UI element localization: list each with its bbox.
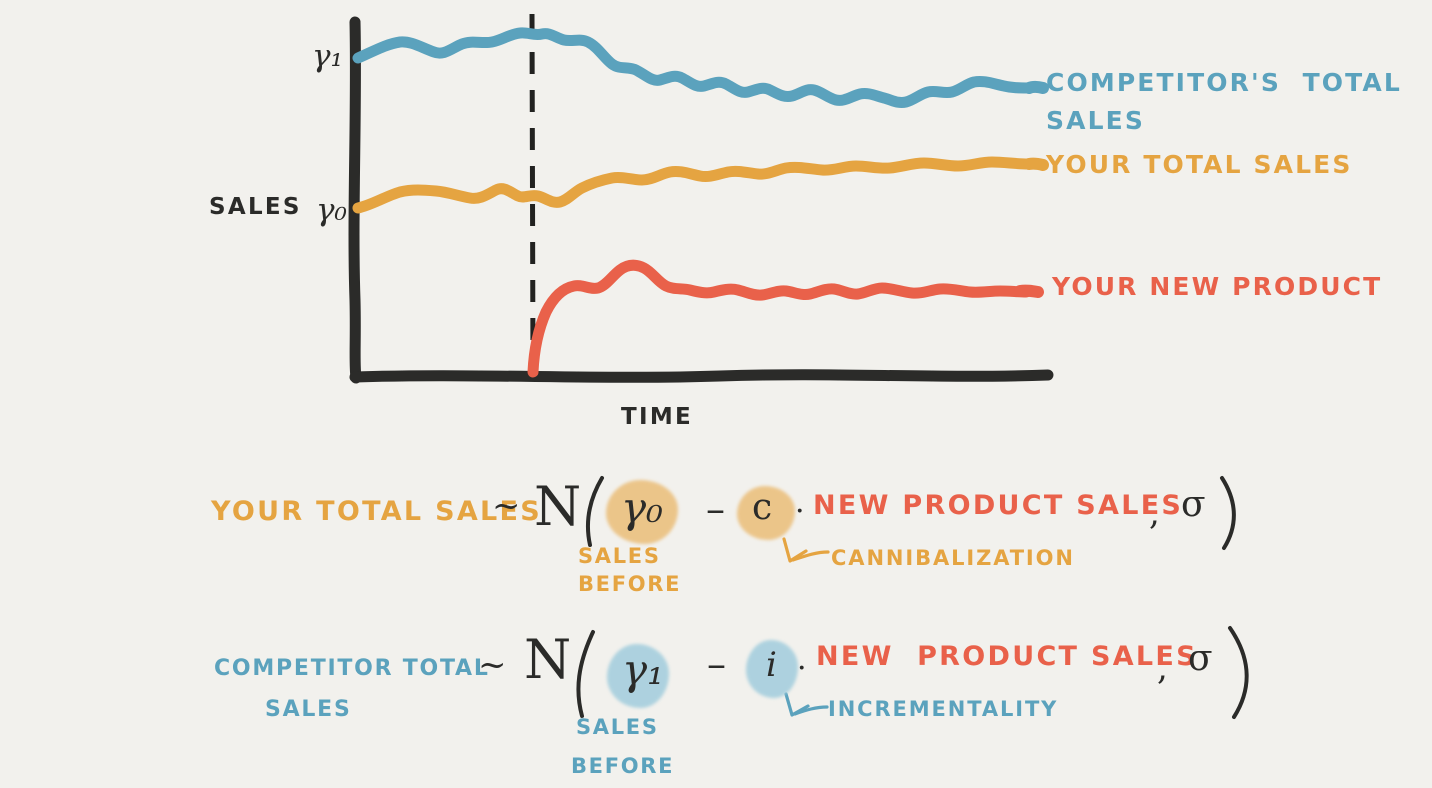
eq1-cannibalization-note: CANNIBALIZATION [831,547,1075,569]
y-axis-label: SALES [209,195,302,219]
x-axis [355,375,1048,378]
eq2-lhs-line1: COMPETITOR TOTAL [214,657,490,680]
eq1-minus-sign: – [706,490,725,530]
eq1-close-paren-stroke [1222,478,1234,548]
incrementality-arrow [786,694,827,715]
cannibalization-arrow [784,539,828,561]
eq1-tilde: ~ [492,489,521,525]
eq2-mean-term: γ₁ [622,648,664,692]
eq2-incrementality-note: INCREMENTALITY [828,698,1058,720]
eq2-minus-sign: – [707,645,726,685]
legend-item-your-total-sales[interactable]: YOUR TOTAL SALES [1046,152,1353,178]
y-tick-gamma-0: γ₀ [316,194,347,227]
eq1-distribution-symbol: N [534,479,581,536]
series-line-your-new-product [533,265,1026,372]
eq2-tilde: ~ [478,648,507,684]
series-line-your-total-sales [358,162,1028,208]
legend-dash-competitor [1029,87,1043,88]
eq2-comma: , [1157,651,1168,687]
eq1-comma: , [1149,496,1160,532]
series-line-competitor-total-sales [358,33,1028,103]
eq2-driver-term: NEW PRODUCT SALES [816,643,1198,671]
eq2-mean-note-line2: BEFORE [571,755,674,777]
eq1-coefficient: c [752,489,772,527]
eq2-close-paren-stroke [1230,628,1247,717]
legend-dash-your-total [1029,164,1043,165]
y-tick-gamma-1: γ₁ [312,40,343,73]
eq1-dot-operator: · [795,496,805,528]
eq1-mean-term: γ₀ [621,486,663,530]
eq2-mean-note-line1: SALES [576,716,659,738]
eq1-driver-term: NEW PRODUCT SALES [813,492,1183,520]
eq1-sigma: σ [1181,486,1206,524]
legend-item-competitor-total-sales-line2[interactable]: SALES [1046,108,1145,134]
legend-item-your-new-product[interactable]: YOUR NEW PRODUCT [1052,274,1382,300]
eq2-sigma: σ [1188,640,1213,678]
eq2-lhs-line2: SALES [265,698,352,721]
legend-item-competitor-total-sales-line1[interactable]: COMPETITOR'S TOTAL [1046,70,1402,96]
eq2-distribution-symbol: N [524,632,571,689]
eq1-mean-note-line1: SALES [578,545,661,567]
eq1-open-paren-stroke [588,478,602,545]
eq2-open-paren-stroke [578,632,593,716]
eq1-mean-note-line2: BEFORE [578,573,681,595]
y-axis [354,22,356,378]
eq2-dot-operator: · [797,653,807,685]
eq2-coefficient: i [766,648,777,684]
legend-dash-new-product [1020,291,1038,292]
x-axis-label: TIME [621,405,693,429]
